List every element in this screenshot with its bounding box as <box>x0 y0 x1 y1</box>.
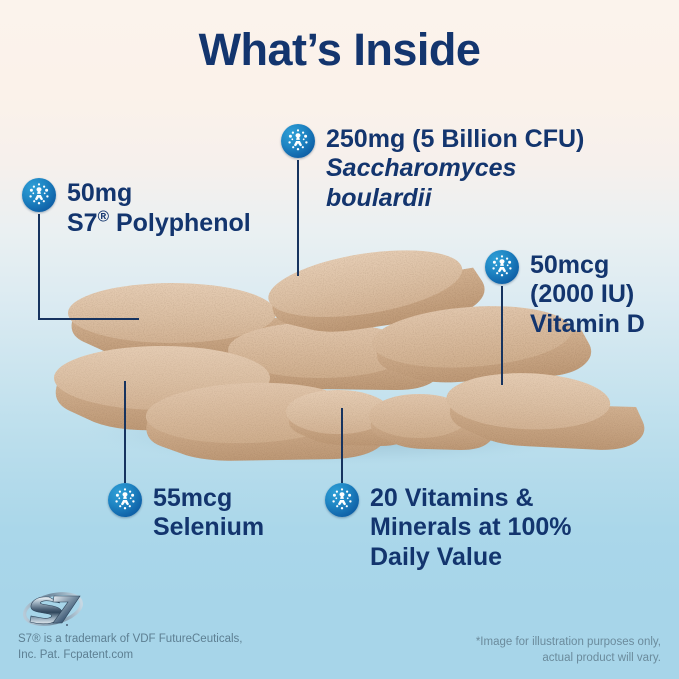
callout-vitamin-d-text: 50mcg (2000 IU) Vitamin D <box>530 250 645 339</box>
trademark-notice: S7® is a trademark of VDF FutureCeutical… <box>18 632 318 663</box>
probiotic-microbe-icon <box>485 250 519 284</box>
callout-polyphenol-amount: 50mg <box>67 179 132 207</box>
callout-saccharomyces-species: Saccharomyces boulardii <box>326 154 584 213</box>
infographic-canvas: What’s Inside <box>0 0 679 679</box>
callout-saccharomyces-amount: 250mg (5 Billion CFU) <box>326 125 584 153</box>
callout-polyphenol: 50mgS7® Polyphenol <box>22 178 251 238</box>
probiotic-microbe-icon <box>108 483 142 517</box>
callout-vitamins-minerals: 20 Vitamins & Minerals at 100% Daily Val… <box>325 483 572 572</box>
callout-selenium: 55mcg Selenium <box>108 483 264 543</box>
leader-lines <box>0 0 679 679</box>
callout-polyphenol-text: 50mgS7® Polyphenol <box>67 178 251 238</box>
probiotic-microbe-icon <box>281 124 315 158</box>
callout-polyphenol-name: S7® Polyphenol <box>67 209 251 237</box>
image-disclaimer: *Image for illustration purposes only, a… <box>361 634 661 667</box>
callout-selenium-text: 55mcg Selenium <box>153 483 264 543</box>
callout-saccharomyces-text: 250mg (5 Billion CFU)Saccharomyces boula… <box>326 124 584 213</box>
probiotic-microbe-icon <box>325 483 359 517</box>
callout-vitamins-minerals-text: 20 Vitamins & Minerals at 100% Daily Val… <box>370 483 572 572</box>
callout-saccharomyces: 250mg (5 Billion CFU)Saccharomyces boula… <box>281 124 584 213</box>
callout-vitamin-d: 50mcg (2000 IU) Vitamin D <box>485 250 645 339</box>
s7-logo <box>18 586 88 632</box>
probiotic-microbe-icon <box>22 178 56 212</box>
